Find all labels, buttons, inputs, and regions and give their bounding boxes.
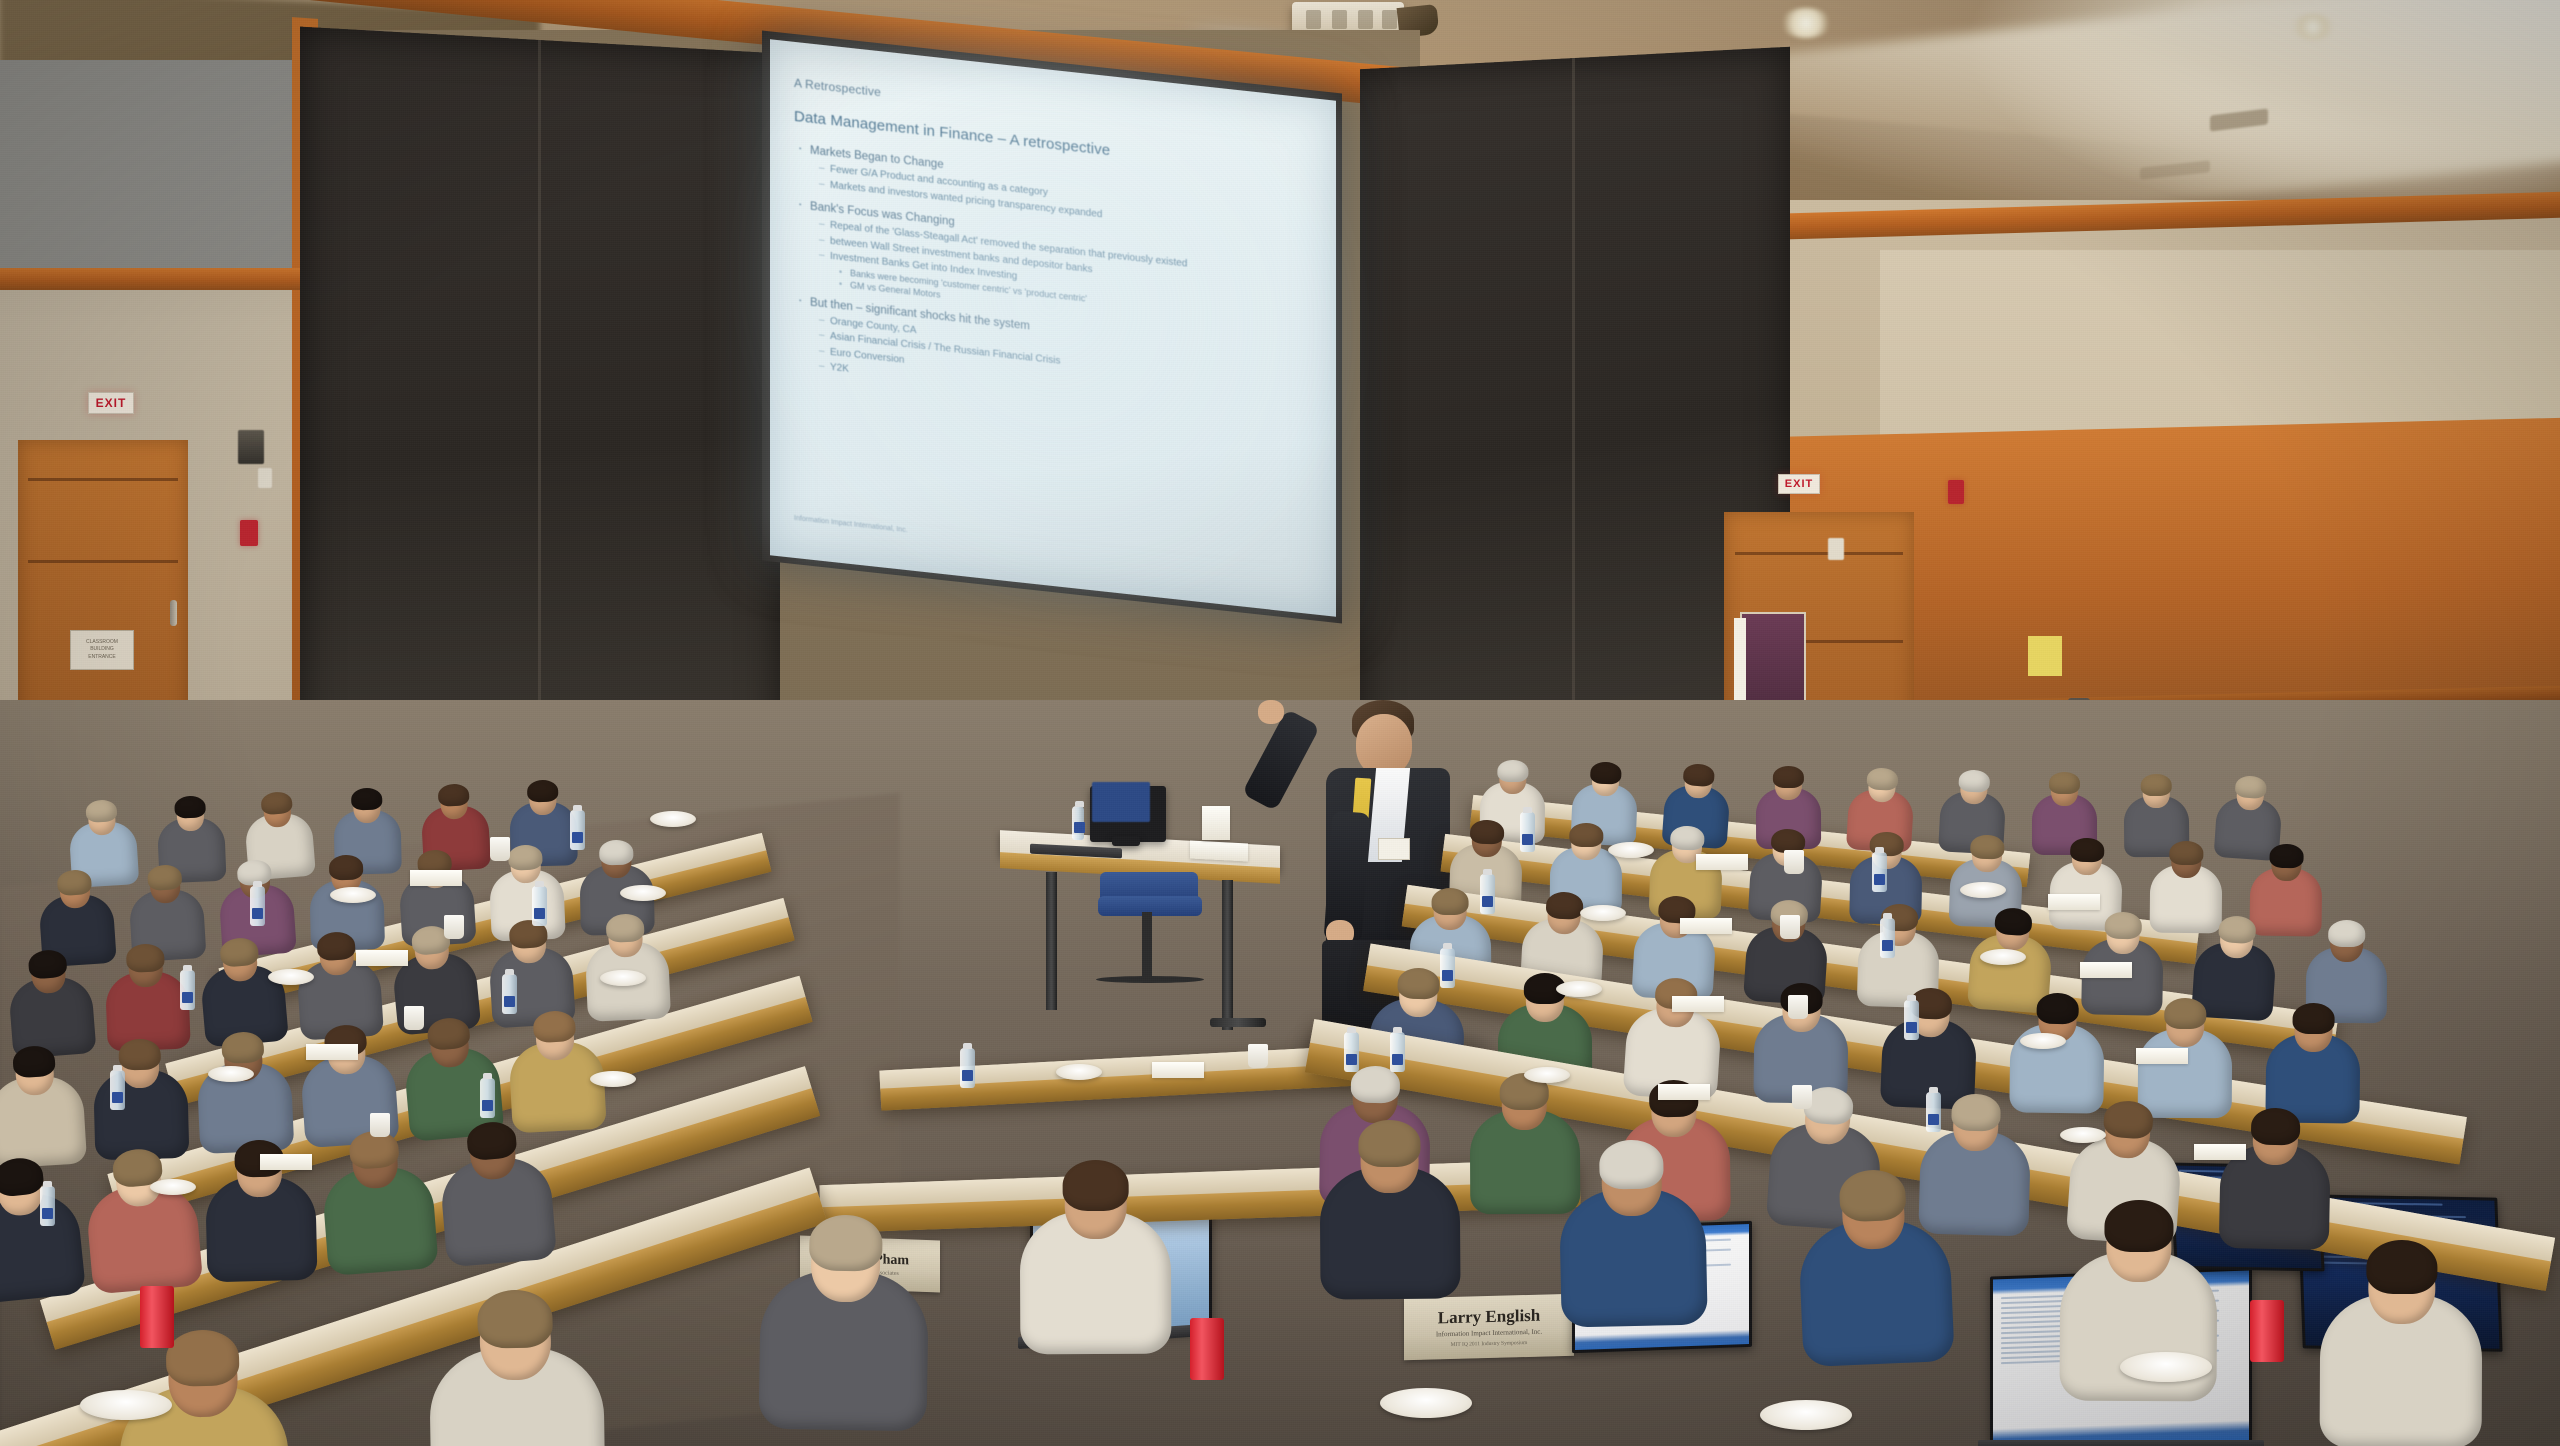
- monitor-stand: [1112, 836, 1140, 846]
- dessert-plate: [2020, 1033, 2066, 1049]
- dessert-plate: [2120, 1352, 2212, 1382]
- dessert-plate: [1760, 1400, 1852, 1430]
- water-bottle: [480, 1078, 495, 1118]
- attendee-hair: [1994, 907, 2033, 936]
- dessert-plate: [208, 1066, 254, 1082]
- nameplate-sub: MIT IQ 2011 Industry Symposium: [1451, 1340, 1528, 1348]
- attendee-hair: [2105, 1200, 2174, 1253]
- attendee-hair: [2141, 774, 2172, 796]
- nameplate-org: Information Impact International, Inc.: [1436, 1328, 1542, 1339]
- attendee-hair: [466, 1120, 518, 1161]
- attendee: [1020, 1160, 1172, 1374]
- attendee: [1558, 1138, 1708, 1346]
- dessert-plate: [1556, 981, 1602, 997]
- presenter-name-badge: [1378, 838, 1410, 860]
- wall-speaker-left: [238, 430, 264, 464]
- attendee: [1319, 1119, 1460, 1318]
- coffee-cup: [1780, 915, 1800, 939]
- attendee-hair: [1599, 1139, 1664, 1189]
- bottle-cap: [1907, 995, 1916, 1001]
- attendee: [318, 1127, 439, 1290]
- coffee-cup: [1248, 1044, 1268, 1068]
- notepad: [2136, 1048, 2188, 1064]
- notepad: [1696, 854, 1748, 870]
- attendee-hair: [1359, 1120, 1421, 1167]
- dessert-plate: [650, 811, 696, 827]
- attendee-hair: [165, 1329, 239, 1387]
- soda-can: [2250, 1300, 2284, 1362]
- bottle-cap: [1393, 1027, 1402, 1033]
- laptop-web-base: [1978, 1440, 2264, 1446]
- downlight-icon: [2290, 14, 2336, 40]
- attendee-hair: [532, 1010, 576, 1044]
- dessert-plate: [330, 887, 376, 903]
- attendee-hair: [2104, 912, 2142, 940]
- notepad: [306, 1044, 358, 1060]
- dessert-plate: [620, 885, 666, 901]
- projection-screen: A Retrospective Data Management in Finan…: [770, 39, 1336, 616]
- lecture-hall-photo: A Retrospective Data Management in Finan…: [0, 0, 2560, 1446]
- attendee-hair: [2328, 920, 2365, 947]
- presentation-slide: A Retrospective Data Management in Finan…: [770, 39, 1336, 616]
- bottle-cap: [1883, 913, 1892, 919]
- water-bottle: [1880, 918, 1895, 958]
- attendee-hair: [2270, 844, 2304, 868]
- upper-wall-panel-left: [0, 60, 330, 290]
- coffee-cup: [370, 1113, 390, 1137]
- door-sign-left: CLASSROOM BUILDING ENTRANCE: [70, 630, 134, 670]
- exit-sign-left: EXIT: [88, 392, 134, 414]
- attendee-hair: [2103, 1100, 2154, 1140]
- attendee-hair: [221, 1031, 265, 1064]
- attendee-hair: [2164, 998, 2207, 1030]
- attendee: [2059, 1200, 2217, 1422]
- attendee: [1796, 1167, 1956, 1387]
- attendee-hair: [1683, 763, 1715, 787]
- bottle-cap: [535, 881, 544, 887]
- coffee-cup: [1788, 995, 1808, 1019]
- dessert-plate: [1056, 1064, 1102, 1080]
- presenter-head: [1356, 714, 1412, 776]
- thermostat[interactable]: [258, 468, 272, 488]
- door-sign-line-3: ENTRANCE: [88, 654, 116, 662]
- attendee-hair: [1431, 888, 1468, 915]
- bottle-cap: [483, 1073, 492, 1079]
- soda-can: [140, 1286, 174, 1348]
- dessert-plate: [590, 1071, 636, 1087]
- soda-can: [1190, 1318, 1224, 1380]
- attendee-hair: [1958, 769, 1990, 792]
- bottle-cap: [573, 805, 582, 811]
- attendee-hair: [147, 864, 183, 891]
- water-bottle: [250, 886, 265, 926]
- water-bottle: [110, 1070, 125, 1110]
- desk-chair-base: [1096, 976, 1204, 983]
- attendee-hair: [174, 795, 206, 819]
- monitor-back-panel: [1092, 782, 1150, 822]
- dessert-plate: [600, 970, 646, 986]
- bottle-cap: [43, 1181, 52, 1187]
- coffee-cup: [1792, 1085, 1812, 1109]
- desk-foot: [1210, 1018, 1266, 1027]
- attendee-hair: [527, 780, 559, 803]
- attendee-hair: [1590, 761, 1622, 784]
- dessert-plate: [268, 969, 314, 985]
- attendee: [0, 1153, 87, 1318]
- fire-alarm-icon: [240, 520, 258, 546]
- slide-footer: Information Impact International, Inc.: [794, 515, 908, 534]
- coffee-cup: [404, 1006, 424, 1030]
- attendee-hair: [317, 931, 357, 961]
- water-bottle: [40, 1186, 55, 1226]
- dessert-plate: [1524, 1067, 1570, 1083]
- attendee: [81, 1145, 204, 1309]
- attendee-hair: [56, 869, 92, 896]
- door-sign-line-2: BUILDING: [90, 646, 114, 654]
- attendee-hair: [1497, 760, 1528, 782]
- water-bottle: [1926, 1092, 1941, 1132]
- attendee-hair: [1838, 1169, 1906, 1222]
- door-sign-line-1: CLASSROOM: [86, 639, 118, 647]
- chalkboard-left: [300, 27, 780, 794]
- attendee: [2319, 1240, 2482, 1446]
- attendee-hair: [12, 1045, 56, 1079]
- attendee-hair: [606, 913, 645, 942]
- attendee-hair: [1545, 891, 1583, 920]
- bottle-cap: [1929, 1087, 1938, 1093]
- attendee-hair: [2070, 837, 2104, 862]
- water-bottle: [1390, 1032, 1405, 1072]
- dessert-plate: [1608, 842, 1654, 858]
- attendee-hair: [28, 949, 68, 980]
- bottle-cap: [1875, 847, 1884, 853]
- attendee-hair: [599, 840, 634, 865]
- bottle-cap: [183, 965, 192, 971]
- water-bottle: [1872, 852, 1887, 892]
- wall-notice: [2028, 636, 2062, 676]
- attendee-hair: [2036, 993, 2079, 1025]
- attendee-hair: [1397, 967, 1441, 1000]
- notepad: [1152, 1062, 1204, 1078]
- dessert-plate: [1580, 905, 1626, 921]
- dessert-plate: [1380, 1388, 1472, 1418]
- attendee-hair: [126, 943, 165, 972]
- dessert-plate: [80, 1390, 172, 1420]
- coffee-cup: [490, 837, 510, 861]
- attendee-hair: [2169, 841, 2203, 865]
- attendee-hair: [1970, 834, 2004, 859]
- attendee: [436, 1118, 558, 1281]
- dessert-plate: [1980, 949, 2026, 965]
- attendee-hair: [2049, 772, 2080, 794]
- water-bottle: [1904, 1000, 1919, 1040]
- attendee-hair: [1470, 820, 1504, 845]
- attendee-hair: [1569, 823, 1603, 847]
- exit-sign-right: EXIT: [1778, 474, 1820, 494]
- water-bottle: [502, 974, 517, 1014]
- water-bottle: [532, 886, 547, 926]
- attendee-hair: [808, 1214, 882, 1271]
- dessert-plate: [150, 1179, 196, 1195]
- wood-trim-baseboard-left: [0, 268, 330, 290]
- attendee-hair: [477, 1289, 553, 1348]
- downlight-icon: [1780, 8, 1832, 38]
- notepad: [260, 1154, 312, 1170]
- bottle-cap: [113, 1065, 122, 1071]
- slide-body: Markets Began to ChangeFewer G/A Product…: [794, 143, 1310, 427]
- notepad: [410, 870, 462, 886]
- water-bottle: [1344, 1032, 1359, 1072]
- bottle-cap: [1347, 1027, 1356, 1033]
- desk-photo-frame: [1202, 806, 1230, 840]
- notepad: [2048, 894, 2100, 910]
- attendee-hair: [118, 1038, 161, 1071]
- water-bottle: [1072, 806, 1084, 840]
- attendee: [758, 1214, 930, 1446]
- fire-alarm-icon: [1948, 480, 1964, 504]
- attendee-hair: [2251, 1108, 2301, 1146]
- attendee-hair: [1951, 1093, 2001, 1131]
- attendee-hair: [329, 855, 364, 881]
- bottle-cap: [1483, 869, 1492, 875]
- coffee-cup: [444, 915, 464, 939]
- attendee-hair: [508, 844, 543, 870]
- dessert-plate: [2060, 1127, 2106, 1143]
- attendee-hair: [2235, 775, 2267, 799]
- dessert-plate: [1960, 882, 2006, 898]
- coffee-cup: [1784, 850, 1804, 874]
- bottle-cap: [505, 969, 514, 975]
- attendee: [2219, 1107, 2332, 1264]
- bottle-cap: [253, 881, 262, 887]
- bottle-cap: [963, 1043, 972, 1049]
- notepad: [1672, 996, 1724, 1012]
- attendee-hair: [351, 788, 383, 811]
- attendee: [428, 1289, 605, 1446]
- attendee-hair: [1867, 767, 1899, 790]
- notepad: [1658, 1084, 1710, 1100]
- attendee-hair: [1062, 1160, 1128, 1211]
- door-handle-left[interactable]: [170, 600, 177, 626]
- attendee-hair: [2292, 1003, 2335, 1035]
- water-bottle: [1520, 812, 1535, 852]
- desk-leg: [1222, 880, 1233, 1030]
- notepad: [1680, 918, 1732, 934]
- notepad: [2194, 1144, 2246, 1160]
- attendee-hair: [2366, 1240, 2437, 1295]
- presenter-hand-raised: [1258, 700, 1284, 724]
- water-bottle: [960, 1048, 975, 1088]
- attendee-hair: [2218, 915, 2257, 944]
- desk-leg: [1046, 872, 1057, 1010]
- notepad: [2080, 962, 2132, 978]
- bottle-cap: [1443, 943, 1452, 949]
- desk-paper: [1190, 840, 1248, 861]
- light-switch[interactable]: [1828, 538, 1844, 560]
- bottle-cap: [1523, 807, 1532, 813]
- attendee-hair: [1670, 825, 1704, 850]
- water-bottle: [1440, 948, 1455, 988]
- notepad: [356, 950, 408, 966]
- water-bottle: [570, 810, 585, 850]
- desk-chair-post: [1142, 912, 1152, 980]
- water-bottle: [180, 970, 195, 1010]
- water-bottle: [1480, 874, 1495, 914]
- attendee-hair: [1773, 766, 1804, 788]
